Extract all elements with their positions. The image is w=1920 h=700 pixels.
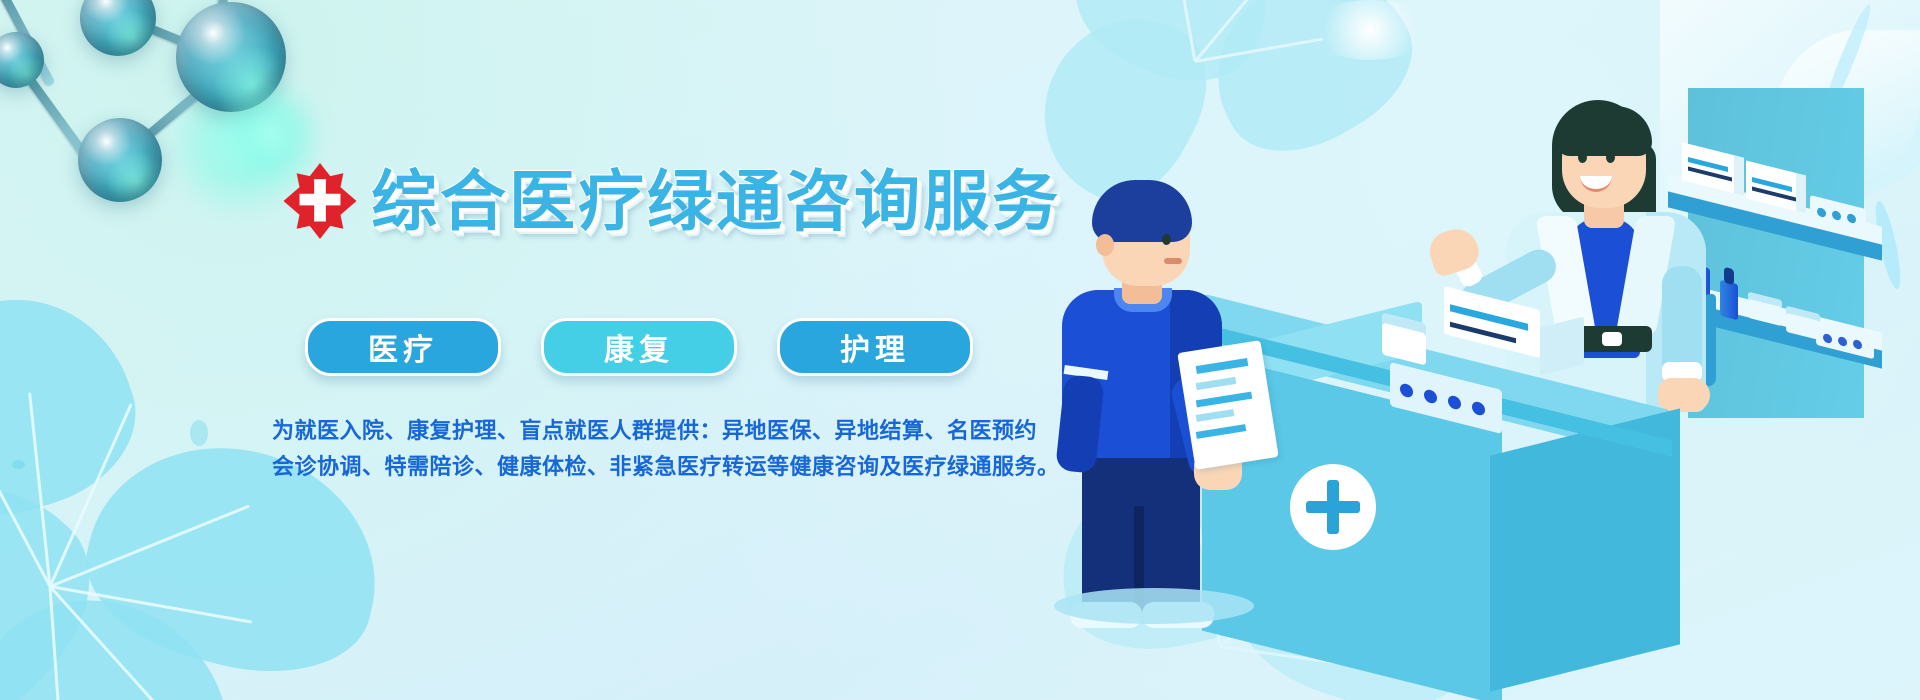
headline-group: 综合医疗绿通咨询服务: [283, 163, 1061, 239]
blossom-stamen: [28, 392, 51, 586]
blossom-stamen: [50, 585, 252, 624]
description-line-1: 为就医入院、康复护理、盲点就医人群提供：异地医保、异地结算、名医预约: [272, 413, 1012, 449]
dropper-bottle: [1720, 280, 1738, 320]
patient-with-prescription: [1030, 150, 1320, 600]
molecule-atom: [80, 0, 156, 56]
molecule-atom: [0, 32, 44, 88]
blossom-stamen: [49, 585, 172, 700]
tag-pill-group: 医疗 康复 护理: [305, 318, 973, 376]
blossom-stamen: [1194, 0, 1293, 62]
pharmacy-counter-scene: [1020, 60, 1920, 700]
pharmacist-belt-buckle: [1602, 332, 1622, 346]
tag-pill-label: 护理: [840, 325, 910, 369]
blossom-stamen: [49, 505, 249, 588]
patient-mouth: [1164, 258, 1182, 264]
blossom-petal: [0, 270, 157, 541]
tag-pill-medical[interactable]: 医疗: [305, 318, 501, 376]
prescription-paper: [1177, 340, 1278, 470]
patient-eye: [1162, 234, 1171, 245]
glass-leaf-watermark: [1310, 0, 1430, 60]
blossom-stamen: [49, 403, 133, 587]
pharmacist-eye: [1578, 152, 1587, 163]
pharmacist-hair-front: [1556, 106, 1652, 156]
tag-pill-label: 康复: [604, 325, 674, 369]
red-medical-cross-diamond-icon: [283, 163, 357, 239]
molecule-graphic: [0, 0, 300, 220]
blossom-petal: [0, 438, 129, 700]
dropper-bottle-cap: [1724, 267, 1734, 285]
patient-hair: [1092, 180, 1192, 242]
cherry-blossom-watermark: [190, 420, 250, 460]
blossom-stamen: [0, 431, 51, 587]
tag-pill-label: 医疗: [368, 325, 438, 369]
tag-pill-nursing[interactable]: 护理: [777, 318, 973, 376]
floor-shadow: [1054, 588, 1254, 624]
patient-ear: [1096, 234, 1114, 256]
molecule-atom: [78, 118, 162, 202]
pharmacist-eye: [1606, 152, 1615, 163]
medical-service-banner: 综合医疗绿通咨询服务 医疗 康复 护理 为就医入院、康复护理、盲点就医人群提供：…: [0, 0, 1920, 700]
blossom-stamen-dot: [190, 420, 208, 446]
blossom-stamen: [1169, 0, 1196, 62]
blossom-stamen: [49, 586, 62, 700]
description-block: 为就医入院、康复护理、盲点就医人群提供：异地医保、异地结算、名医预约 会诊协调、…: [272, 413, 1012, 486]
description-line-2: 会诊协调、特需陪诊、健康体检、非紧急医疗转运等健康咨询及医疗绿通服务。: [272, 449, 1012, 485]
blossom-stamen-dot: [12, 460, 25, 469]
blossom-petal: [0, 549, 280, 700]
patient-eyebrow: [1158, 222, 1178, 228]
tag-pill-rehabilitation[interactable]: 康复: [541, 318, 737, 376]
page-title: 综合医疗绿通咨询服务: [371, 168, 1061, 234]
pharmacist-hand: [1658, 378, 1710, 412]
